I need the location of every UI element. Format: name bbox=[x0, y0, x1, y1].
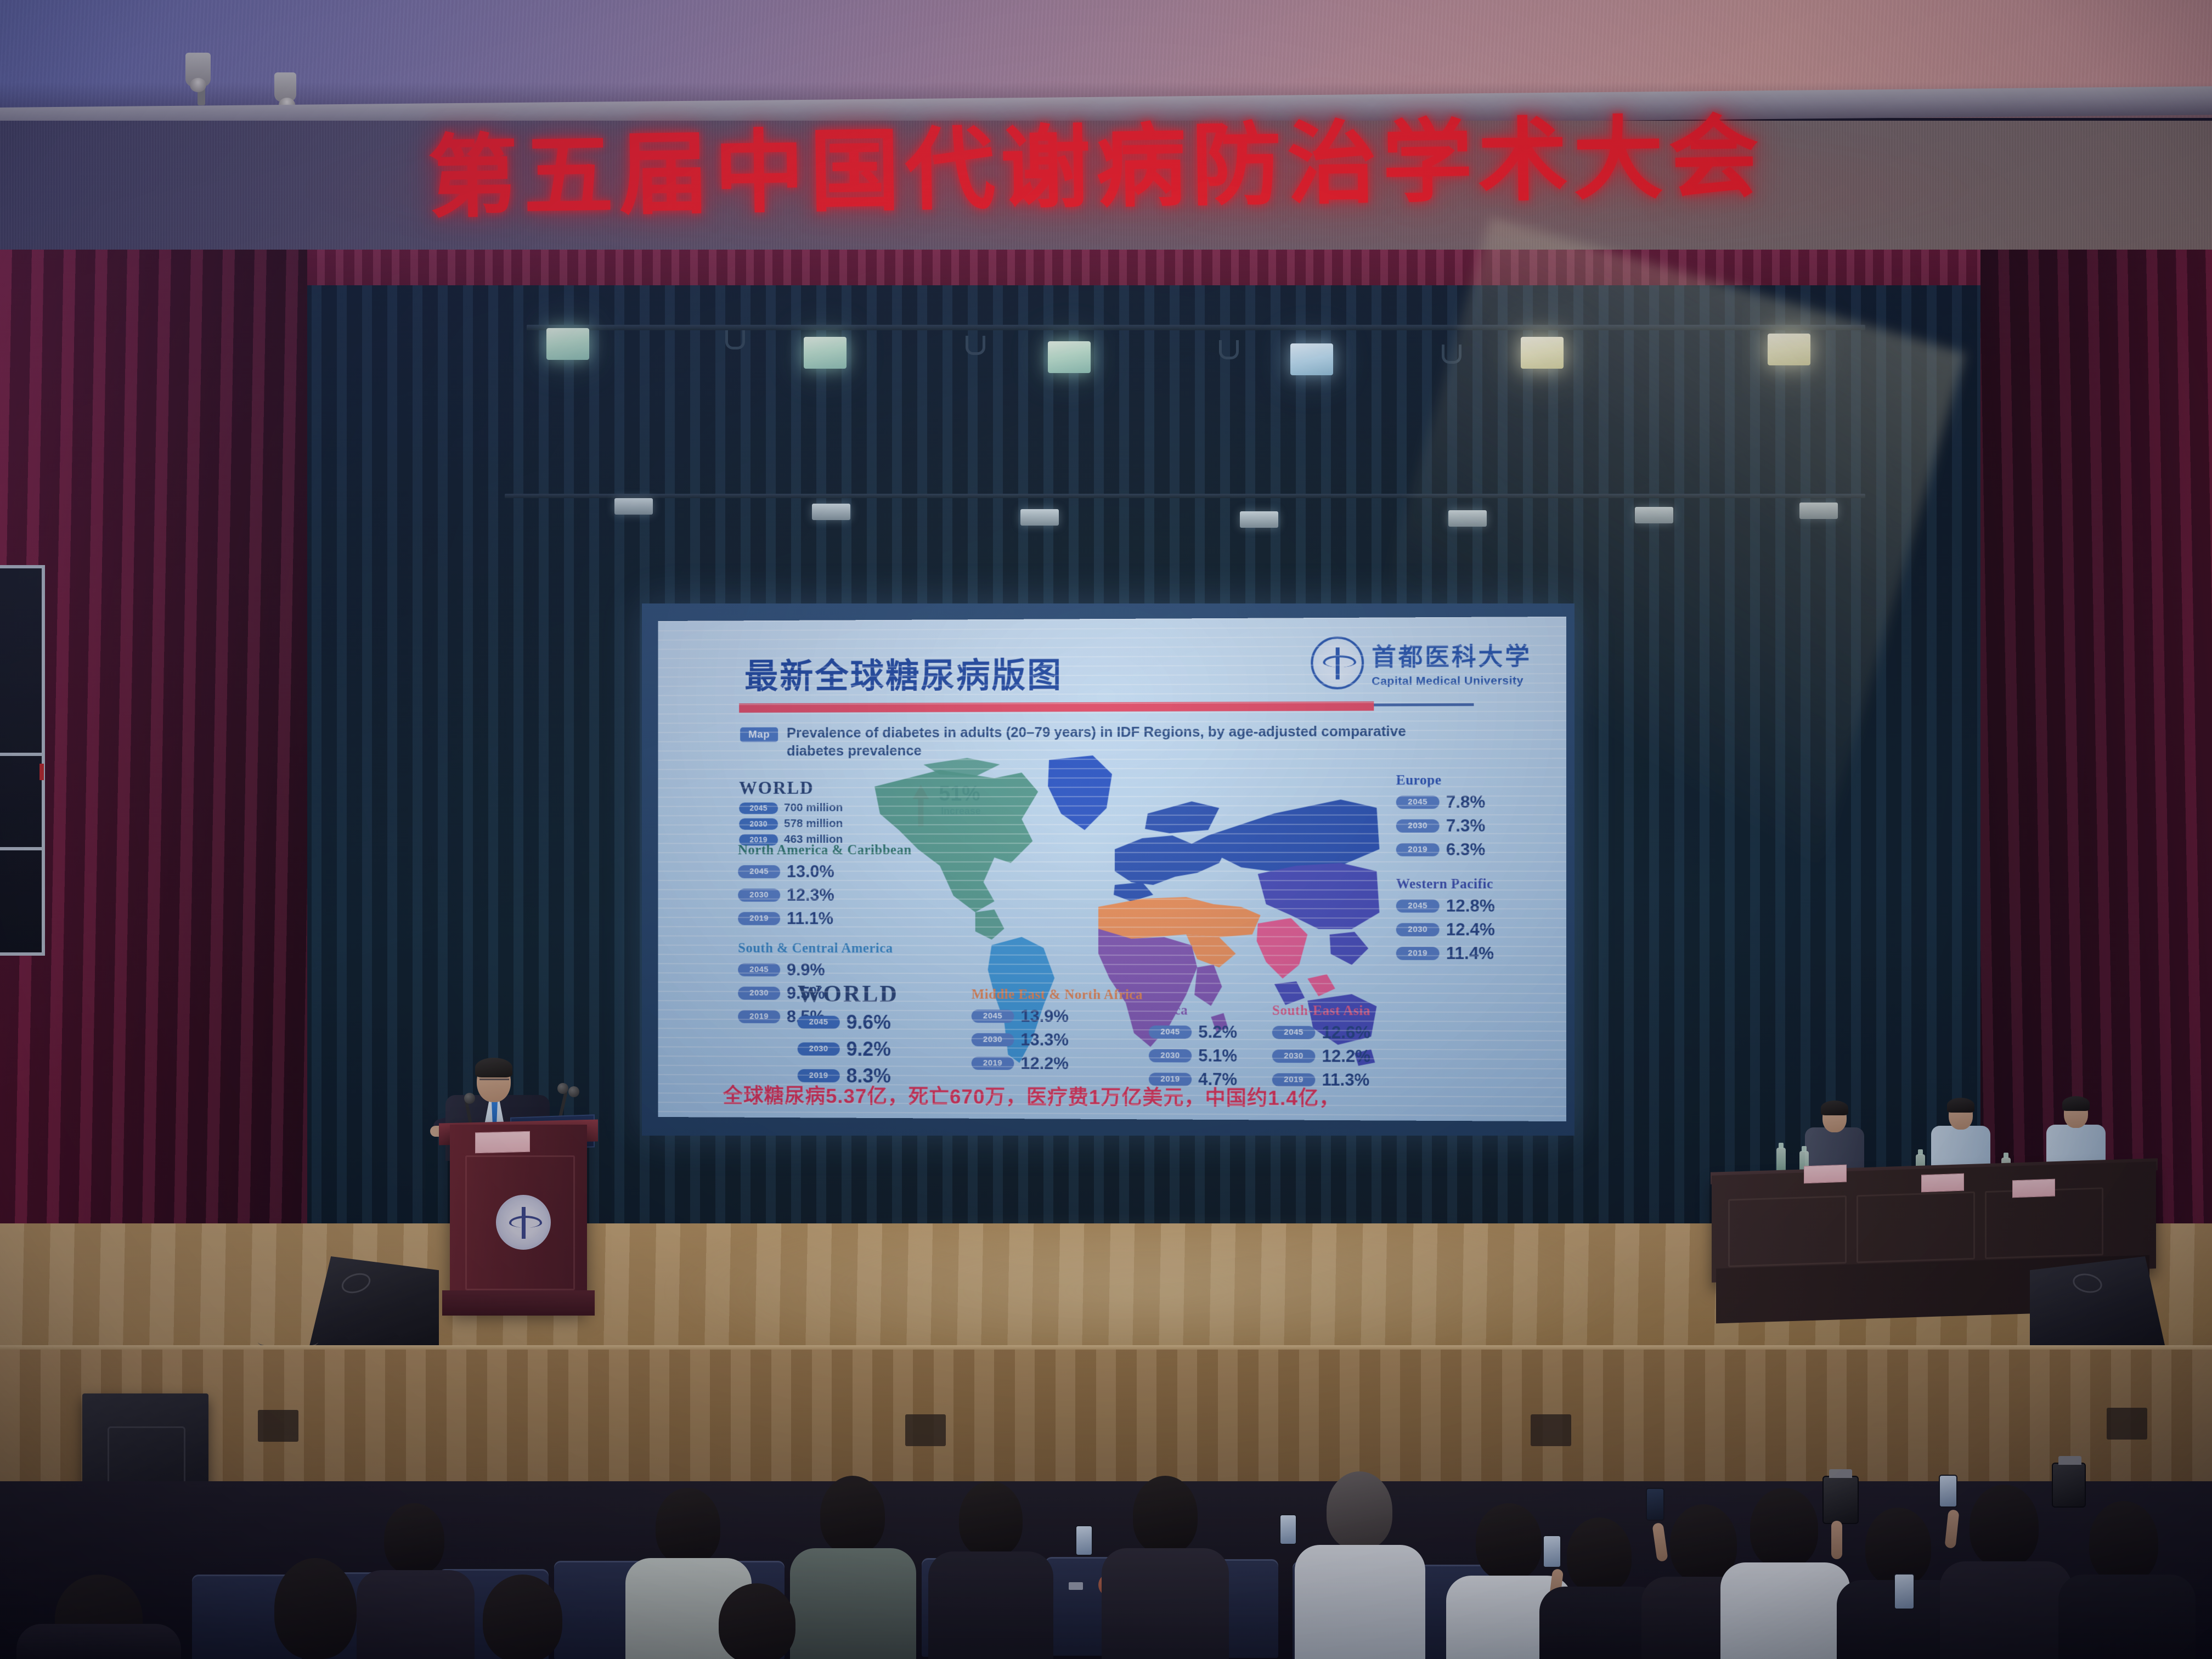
region-value: 5.2% bbox=[1198, 1022, 1237, 1042]
region-row: 203013.3% bbox=[972, 1030, 1143, 1050]
region-name: North America & Caribbean bbox=[738, 843, 911, 858]
university-name-en: Capital Medical University bbox=[1372, 674, 1532, 688]
stage-light-small-icon-6 bbox=[1635, 507, 1673, 523]
light-hook-icon-2 bbox=[966, 336, 985, 355]
year-pill: 2019 bbox=[972, 1057, 1014, 1070]
audience-head bbox=[1476, 1503, 1542, 1580]
audience-phone[interactable] bbox=[1646, 1488, 1664, 1521]
region-europe: Europe 20457.8% 20307.3% 20196.3% bbox=[1396, 773, 1486, 860]
panelist-hair bbox=[2062, 1096, 2090, 1111]
year-pill: 2030 bbox=[1396, 923, 1440, 936]
audience-phone[interactable] bbox=[1939, 1475, 1957, 1508]
stage-light-small-icon-5 bbox=[1448, 510, 1487, 527]
audience-head bbox=[959, 1481, 1023, 1557]
panel-table-molding-1 bbox=[1728, 1195, 1847, 1267]
apron-vent-3 bbox=[1531, 1414, 1571, 1446]
region-western-pacific: Western Pacific 204512.8% 203012.4% 2019… bbox=[1396, 877, 1495, 963]
stage-light-icon-1 bbox=[546, 328, 589, 360]
region-value: 12.2% bbox=[1020, 1053, 1069, 1073]
light-hook-icon-3 bbox=[1219, 340, 1239, 359]
audience-camera[interactable] bbox=[2052, 1463, 2086, 1508]
university-logo: 首都医科大学 Capital Medical University bbox=[1311, 635, 1532, 689]
side-display-divider-1 bbox=[0, 753, 42, 756]
region-value: 12.8% bbox=[1446, 896, 1495, 916]
year-pill: 2019 bbox=[1396, 947, 1440, 960]
podium-base bbox=[442, 1290, 595, 1316]
audience-shoulders bbox=[357, 1570, 475, 1659]
projection-screen[interactable]: 最新全球糖尿病版图 首都医科大学 Capital Medical Univers… bbox=[658, 617, 1566, 1121]
speaker-hair bbox=[475, 1058, 512, 1077]
lighting-truss-upper bbox=[527, 325, 1865, 330]
stage-monitor-speaker-right bbox=[2030, 1256, 2167, 1355]
region-row: 204512.8% bbox=[1396, 896, 1495, 916]
stage-light-icon-3 bbox=[1048, 341, 1091, 373]
light-hook-icon-1 bbox=[725, 330, 745, 349]
world-counts-block: WORLD 2045 700 million 2030 578 million … bbox=[739, 778, 843, 846]
region-row: 20455.2% bbox=[1149, 1022, 1237, 1042]
stage-light-small-icon-7 bbox=[1799, 503, 1838, 519]
stage-apron bbox=[0, 1350, 2212, 1487]
region-value: 12.6% bbox=[1322, 1023, 1370, 1042]
region-row: 201911.4% bbox=[1396, 944, 1495, 964]
podium bbox=[450, 1125, 587, 1311]
title-underline-red bbox=[739, 701, 1374, 713]
slide-bottom-note: 全球糖尿病5.37亿，死亡670万，医疗费1万亿美元，中国约1.4亿， bbox=[723, 1079, 1519, 1112]
panelist-name-card-1 bbox=[1804, 1165, 1847, 1184]
region-value: 12.3% bbox=[787, 885, 834, 905]
audience-head bbox=[1567, 1517, 1632, 1593]
year-pill: 2030 bbox=[972, 1033, 1014, 1046]
region-name: South & Central America bbox=[738, 941, 893, 956]
light-hook-icon-4 bbox=[1442, 345, 1462, 364]
side-display-divider-2 bbox=[0, 847, 42, 850]
world-count-row: 2030 578 million bbox=[739, 817, 843, 830]
panel-table-molding-3 bbox=[1985, 1187, 2103, 1259]
lighting-truss-lower bbox=[505, 494, 1865, 498]
stage-light-small-icon-4 bbox=[1240, 511, 1278, 528]
year-pill: 2030 bbox=[1396, 819, 1440, 832]
region-south-east-asia: South-East Asia 204512.6% 203012.2% 2019… bbox=[1272, 1003, 1370, 1090]
region-row: 20309.2% bbox=[798, 1037, 899, 1060]
seat-tag bbox=[1069, 1582, 1083, 1590]
audience-phone[interactable] bbox=[1279, 1514, 1297, 1545]
year-pill: 2019 bbox=[738, 912, 780, 925]
year-pill: 2045 bbox=[798, 1016, 840, 1029]
count-value: 578 million bbox=[784, 817, 843, 830]
audience-head bbox=[719, 1583, 795, 1659]
region-value: 7.8% bbox=[1446, 792, 1486, 812]
region-value: 9.9% bbox=[787, 960, 825, 980]
region-world: WORLD 20459.6% 20309.2% 20198.3% bbox=[798, 980, 899, 1088]
year-pill: 2045 bbox=[1396, 899, 1440, 912]
region-row: 204512.6% bbox=[1272, 1023, 1370, 1043]
apron-vent-4 bbox=[2107, 1408, 2147, 1440]
ceiling-spotlight-2-icon bbox=[274, 72, 296, 102]
region-row: 204513.0% bbox=[738, 862, 911, 882]
region-value: 13.3% bbox=[1020, 1030, 1069, 1049]
region-name: Western Pacific bbox=[1396, 877, 1495, 892]
apron-vent-1 bbox=[258, 1410, 298, 1442]
region-row: 20459.9% bbox=[738, 960, 893, 980]
region-value: 13.0% bbox=[787, 862, 834, 882]
region-africa: Africa 20455.2% 20305.1% 20194.7% bbox=[1149, 1003, 1237, 1090]
stage-light-small-icon-1 bbox=[614, 498, 653, 515]
audience-head bbox=[2089, 1501, 2158, 1583]
caduceus-seal-icon bbox=[1311, 636, 1364, 690]
audience-head bbox=[1750, 1488, 1818, 1568]
microphone-head-icon-right2 bbox=[568, 1086, 579, 1097]
region-value: 12.4% bbox=[1446, 920, 1495, 940]
speaker-glasses-icon bbox=[479, 1079, 509, 1086]
audience-head bbox=[1133, 1476, 1198, 1554]
year-pill: 2045 bbox=[1272, 1026, 1316, 1039]
stage-light-icon-5 bbox=[1521, 337, 1564, 369]
year-pill: 2030 bbox=[798, 1042, 840, 1056]
auditorium-scene: 第五届中国代谢病防治学术大会 最新全球糖尿病版图 bbox=[0, 0, 2212, 1659]
panelist-name-card-2 bbox=[1921, 1173, 1964, 1193]
microphone-head-icon-left bbox=[464, 1093, 475, 1104]
region-value: 11.1% bbox=[787, 909, 833, 929]
year-pill: 2030 bbox=[738, 889, 780, 902]
region-row: 20459.6% bbox=[798, 1011, 899, 1034]
stage-light-icon-4 bbox=[1290, 343, 1333, 375]
side-display-panel bbox=[0, 565, 45, 956]
panelist-name-card-3 bbox=[2012, 1179, 2055, 1198]
year-pill: 2030 bbox=[738, 986, 780, 1000]
region-middle-east: Middle East & North Africa 204513.9% 203… bbox=[972, 987, 1143, 1074]
audience-phone[interactable] bbox=[1543, 1535, 1561, 1568]
region-row: 20196.3% bbox=[1396, 840, 1486, 860]
year-pill: 2045 bbox=[738, 865, 780, 878]
count-value: 700 million bbox=[784, 802, 843, 815]
region-value: 7.3% bbox=[1446, 816, 1486, 836]
left-stage-curtain bbox=[0, 250, 307, 1308]
region-value: 13.9% bbox=[1020, 1007, 1069, 1026]
audience-shoulders bbox=[2058, 1575, 2196, 1659]
audience-head bbox=[483, 1575, 562, 1659]
ceiling-spotlight-icon bbox=[185, 53, 211, 87]
region-value: 6.3% bbox=[1446, 840, 1486, 860]
stage-light-icon-6 bbox=[1768, 334, 1810, 365]
audience-phone[interactable] bbox=[1075, 1525, 1093, 1556]
audience-shoulders bbox=[1940, 1561, 2072, 1659]
year-pill: 2045 bbox=[972, 1009, 1014, 1023]
audience-camera[interactable] bbox=[1822, 1476, 1859, 1524]
world-counts-heading: WORLD bbox=[739, 778, 843, 799]
left-curtain-folds bbox=[0, 250, 307, 1308]
year-pill: 2045 bbox=[739, 802, 778, 814]
panelist-hair bbox=[1821, 1101, 1848, 1115]
year-pill: 2030 bbox=[739, 818, 778, 830]
university-name-cn: 首都医科大学 bbox=[1372, 637, 1532, 673]
region-row: 20457.8% bbox=[1396, 792, 1486, 812]
audience-head bbox=[274, 1558, 357, 1659]
audience-shoulders bbox=[1295, 1545, 1425, 1659]
year-pill: 2019 bbox=[1396, 843, 1440, 856]
region-value: 12.2% bbox=[1322, 1046, 1370, 1066]
audience-head bbox=[1327, 1471, 1392, 1549]
region-name: Africa bbox=[1149, 1003, 1237, 1018]
world-count-row: 2045 700 million bbox=[739, 802, 843, 815]
slide-title: 最新全球糖尿病版图 bbox=[744, 647, 1063, 698]
year-pill: 2045 bbox=[1149, 1025, 1192, 1039]
region-value: 9.6% bbox=[847, 1011, 891, 1034]
year-pill: 2030 bbox=[1272, 1049, 1316, 1063]
audience-shoulders bbox=[1102, 1548, 1229, 1659]
audience-shoulders bbox=[928, 1551, 1053, 1659]
stage-light-small-icon-2 bbox=[812, 504, 850, 520]
region-row: 204513.9% bbox=[972, 1006, 1143, 1026]
title-underline-blue bbox=[1374, 703, 1474, 707]
region-row: 203012.3% bbox=[738, 885, 911, 905]
year-pill: 2030 bbox=[1149, 1049, 1192, 1062]
region-name: Middle East & North Africa bbox=[972, 987, 1143, 1003]
region-value: 5.1% bbox=[1198, 1046, 1237, 1066]
apron-vent-2 bbox=[905, 1414, 946, 1446]
microphone-head-icon-right bbox=[557, 1083, 568, 1094]
stage-light-small-icon-3 bbox=[1020, 509, 1059, 526]
region-row: 20307.3% bbox=[1396, 816, 1486, 836]
audience-shoulders bbox=[16, 1624, 181, 1659]
map-badge: Map bbox=[740, 727, 778, 742]
region-row: 203012.2% bbox=[1272, 1046, 1370, 1066]
region-row: 201912.2% bbox=[972, 1053, 1143, 1074]
year-pill: 2045 bbox=[1396, 795, 1440, 809]
panel-table-molding-2 bbox=[1857, 1192, 1975, 1263]
audience-head bbox=[1970, 1485, 2039, 1567]
region-name: WORLD bbox=[798, 980, 899, 1007]
speaker-name-card bbox=[475, 1131, 530, 1154]
region-value: 11.4% bbox=[1446, 944, 1494, 963]
year-pill: 2045 bbox=[738, 963, 780, 977]
panelist-hair bbox=[1947, 1098, 1974, 1113]
audience-head bbox=[384, 1503, 444, 1575]
audience-shoulders bbox=[790, 1548, 916, 1659]
region-value: 9.2% bbox=[847, 1038, 891, 1061]
region-row: 203012.4% bbox=[1396, 920, 1495, 940]
year-pill: 2019 bbox=[738, 1010, 780, 1023]
stage-light-icon-2 bbox=[804, 337, 847, 369]
map-region-greenland bbox=[1048, 755, 1112, 830]
region-north-america: North America & Caribbean 204513.0% 2030… bbox=[738, 843, 911, 928]
audience-head bbox=[656, 1488, 720, 1565]
side-display-indicator bbox=[39, 764, 44, 780]
audience-shoulders bbox=[1720, 1562, 1850, 1659]
audience-raised-arm bbox=[1831, 1521, 1842, 1559]
region-name: South-East Asia bbox=[1272, 1003, 1370, 1019]
region-name: Europe bbox=[1396, 773, 1486, 788]
region-row: 201911.1% bbox=[738, 909, 911, 928]
audience-head bbox=[820, 1476, 885, 1554]
university-seal-icon bbox=[496, 1195, 551, 1250]
apron-planks bbox=[0, 1350, 2212, 1487]
region-row: 20305.1% bbox=[1149, 1046, 1237, 1066]
audience-phone[interactable] bbox=[1894, 1573, 1915, 1610]
